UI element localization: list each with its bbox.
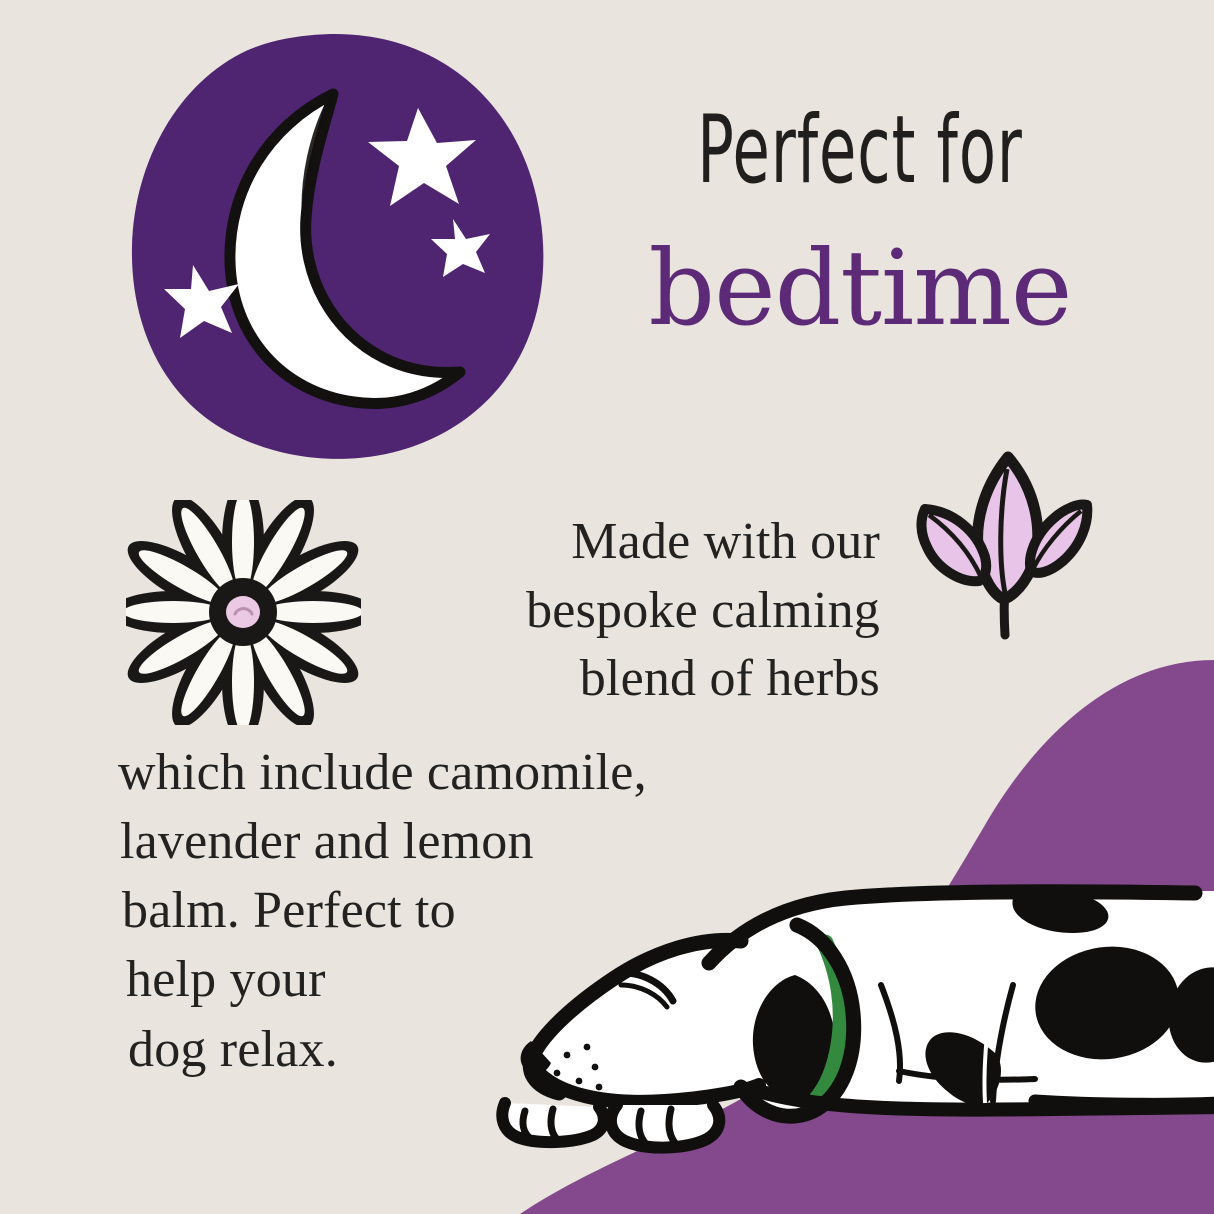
dog-body-group xyxy=(502,889,1214,1148)
flower-center xyxy=(226,596,260,628)
copy-line: Made with our xyxy=(370,508,880,577)
herb-sprig-icon xyxy=(895,435,1110,650)
moon-and-stars-badge xyxy=(126,30,546,460)
headline-perfect-for: Perfect for xyxy=(584,104,1136,198)
product-benefit-card: Perfect for bedtime xyxy=(0,0,1214,1214)
headline-block: Perfect for bedtime xyxy=(560,104,1160,340)
sleeping-dalmatian-dog-illustration xyxy=(495,855,1214,1185)
copy-block-primary: Made with our bespoke calming blend of h… xyxy=(370,508,880,714)
copy-line: bespoke calming xyxy=(370,577,880,646)
daisy-flower-icon xyxy=(126,500,361,725)
copy-line: which include camomile, xyxy=(118,738,818,807)
copy-line: blend of herbs xyxy=(370,645,880,714)
headline-bedtime: bedtime xyxy=(560,236,1160,340)
